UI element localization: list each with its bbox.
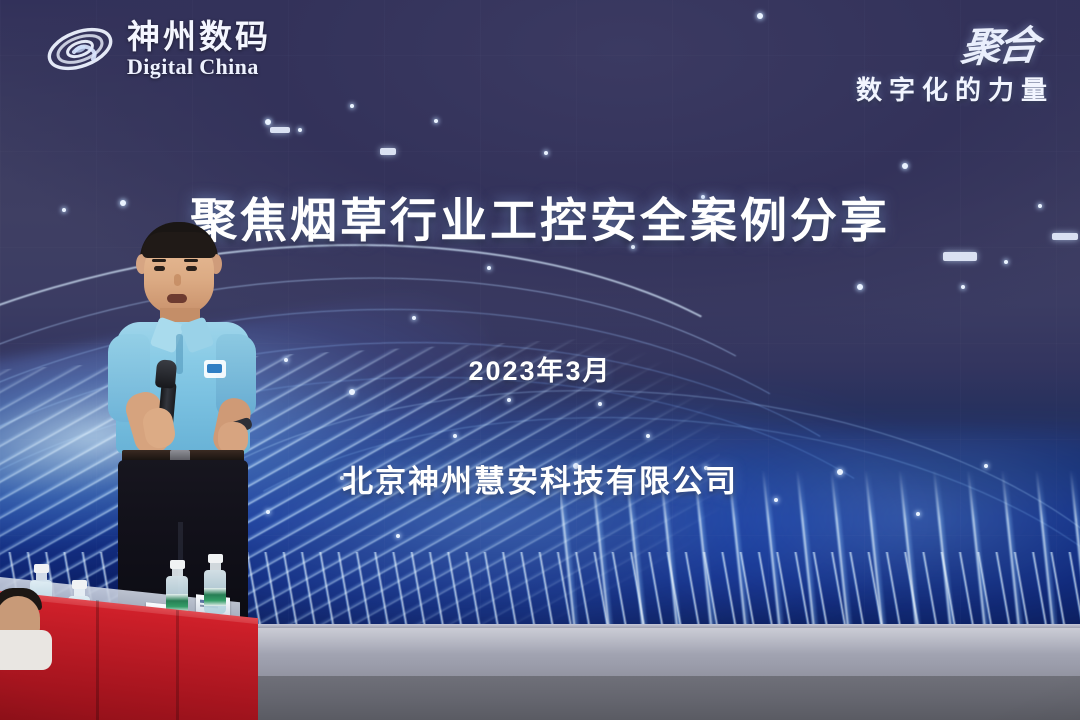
particle-dot <box>298 128 302 132</box>
brand-name-en: Digital China <box>127 56 271 78</box>
light-bar <box>943 252 977 261</box>
bottle-body <box>204 570 226 614</box>
microphone-head-icon <box>155 359 177 389</box>
bottle-neck <box>172 569 183 576</box>
attendee-body <box>0 630 52 670</box>
presenter-shirt-placket <box>176 334 183 374</box>
particle-dot <box>350 104 354 108</box>
presenter-chest-logo-mark <box>207 364 222 373</box>
event-slogan: 聚合 数字化的力量 <box>856 14 1054 107</box>
bottle-cap <box>208 554 223 563</box>
particle-dot <box>507 398 511 402</box>
particle-dot <box>453 434 457 438</box>
brand-logo-text: 神州数码 Digital China <box>127 20 271 78</box>
presenter-eye-left <box>154 266 165 271</box>
presenter-nose <box>174 274 181 286</box>
particle-dot <box>544 151 548 155</box>
particle-dot <box>916 512 920 516</box>
presenter-eye-right <box>186 266 197 271</box>
bottle-cap <box>34 564 49 573</box>
particle-dot <box>598 402 602 406</box>
presenter-fringe <box>142 232 216 258</box>
bottle-label <box>204 588 226 606</box>
bottle-neck <box>74 589 85 596</box>
bottle-neck <box>210 563 221 570</box>
presenter-mouth <box>167 294 187 303</box>
particle-dot <box>961 285 965 289</box>
particle-dot <box>1004 260 1008 264</box>
particle-dot <box>396 534 400 538</box>
slogan-subtitle: 数字化的力量 <box>856 70 1054 107</box>
bottle-neck <box>36 573 47 580</box>
presentation-photo: 神州数码 Digital China 聚合 数字化的力量 聚焦烟草行业工控安全案… <box>0 0 1080 720</box>
brand-logo: 神州数码 Digital China <box>44 18 271 80</box>
particle-dot <box>349 389 355 395</box>
brand-name-cn: 神州数码 <box>127 20 271 53</box>
particle-dot <box>487 266 491 270</box>
light-bar <box>270 127 290 133</box>
bottle-cap <box>170 560 185 569</box>
slogan-calligraphy: 聚合 <box>958 12 1058 73</box>
particle-dot <box>412 316 416 320</box>
bottle-cap <box>72 580 87 589</box>
particle-dot <box>757 13 763 19</box>
presenter-eyebrow-left <box>152 259 166 262</box>
particle-dot <box>857 284 863 290</box>
table-cloth-fold <box>176 610 179 720</box>
light-bar <box>380 148 396 155</box>
particle-dot <box>646 434 650 438</box>
presenter-eyebrow-right <box>184 259 198 262</box>
stage-riser <box>240 676 1080 720</box>
particle-dot <box>902 163 908 169</box>
table-cloth-fold <box>96 600 99 720</box>
digital-china-spiral-logo-icon <box>44 18 116 80</box>
particle-dot <box>434 119 438 123</box>
particle-dot <box>265 119 271 125</box>
water-bottle <box>204 554 226 614</box>
